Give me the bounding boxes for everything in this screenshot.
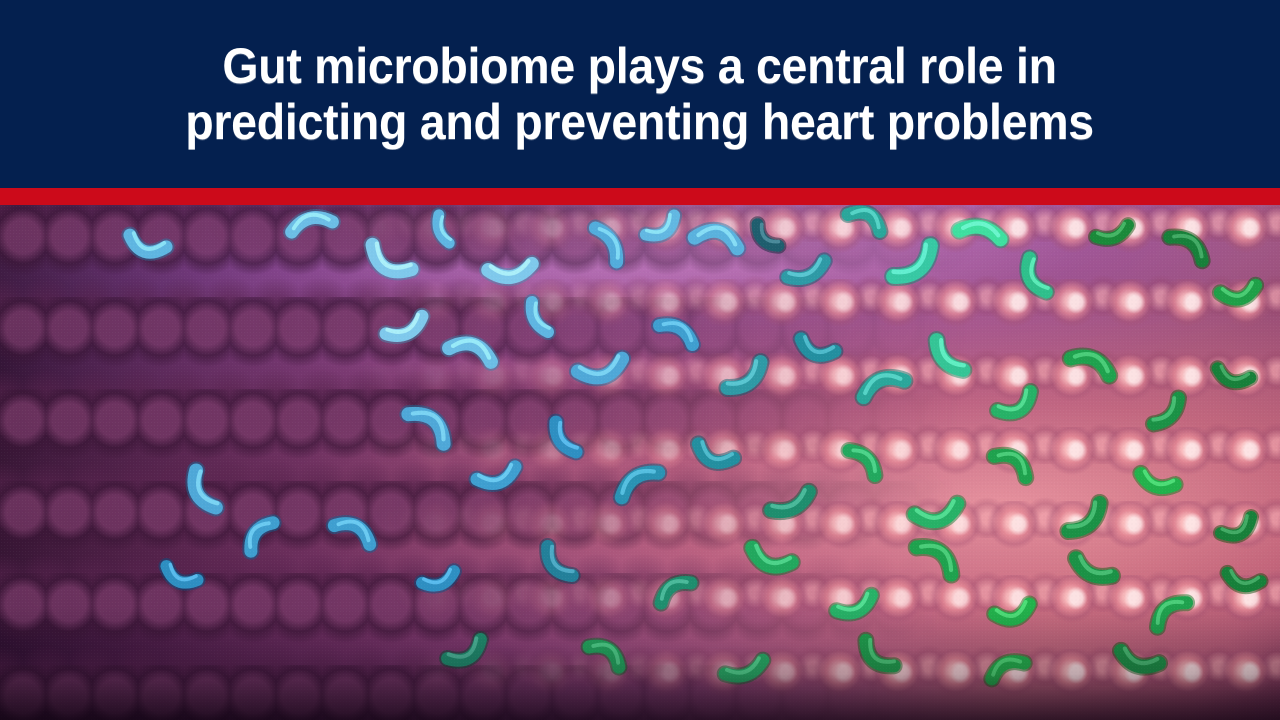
page-title: Gut microbiome plays a central role in p… <box>186 38 1095 150</box>
headline-line-2: predicting and preventing heart problems <box>186 94 1095 150</box>
red-divider-rule <box>0 188 1280 205</box>
photo-vignette <box>0 205 1280 720</box>
headline-banner: Gut microbiome plays a central role in p… <box>0 0 1280 188</box>
gut-microbiome-illustration <box>0 205 1280 720</box>
headline-line-1: Gut microbiome plays a central role in <box>186 38 1095 94</box>
article-header-card: Gut microbiome plays a central role in p… <box>0 0 1280 720</box>
